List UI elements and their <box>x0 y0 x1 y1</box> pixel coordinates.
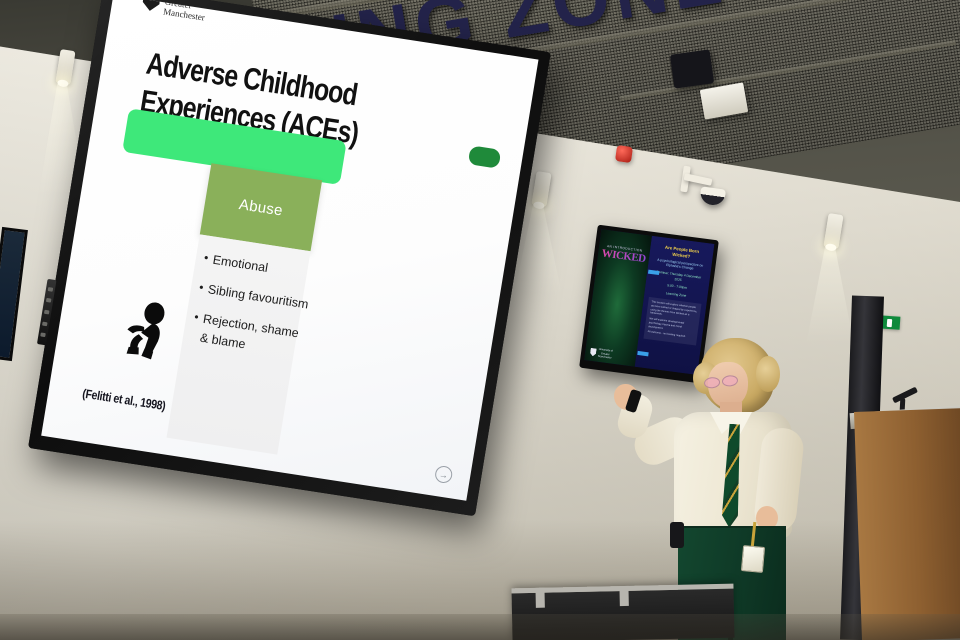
university-name: University of Greater Manchester <box>163 0 215 24</box>
bullet-list: Emotional Sibling favouritism Rejection,… <box>188 249 316 374</box>
tv-university-logo: University of Greater Manchester <box>590 347 613 360</box>
university-logo: University of Greater Manchester <box>141 0 215 24</box>
crest-icon <box>590 348 597 357</box>
bullet-item: Sibling favouritism <box>198 279 312 315</box>
interactive-whiteboard-display[interactable]: University of Greater Manchester Adverse… <box>28 0 551 516</box>
presenter-belt-pouch <box>670 522 684 548</box>
fire-alarm-icon <box>615 145 633 163</box>
bullet-item: Rejection, shame & blame <box>190 309 307 363</box>
tv-uni-line-3: Manchester <box>598 355 612 360</box>
child-figure-icon <box>117 298 174 366</box>
crest-icon <box>141 0 161 12</box>
id-badge <box>741 545 765 573</box>
tv-university-name: University of Greater Manchester <box>598 348 613 359</box>
display-panel: University of Greater Manchester Adverse… <box>41 0 538 501</box>
display-bezel: University of Greater Manchester Adverse… <box>28 0 551 516</box>
category-card-label: Abuse <box>238 196 284 219</box>
uni-line-3: Manchester <box>163 6 206 22</box>
lecture-hall-scene: ING ZONE University of <box>0 0 960 640</box>
floor <box>0 614 960 640</box>
presentation-slide: University of Greater Manchester Adverse… <box>41 0 538 501</box>
ceiling-speaker <box>670 49 714 88</box>
wooden-lectern <box>854 408 960 640</box>
next-slide-arrow-icon[interactable]: → <box>434 465 454 484</box>
slide-citation: (Felitti et al., 1998) <box>81 387 166 413</box>
slide-badge <box>468 145 502 168</box>
